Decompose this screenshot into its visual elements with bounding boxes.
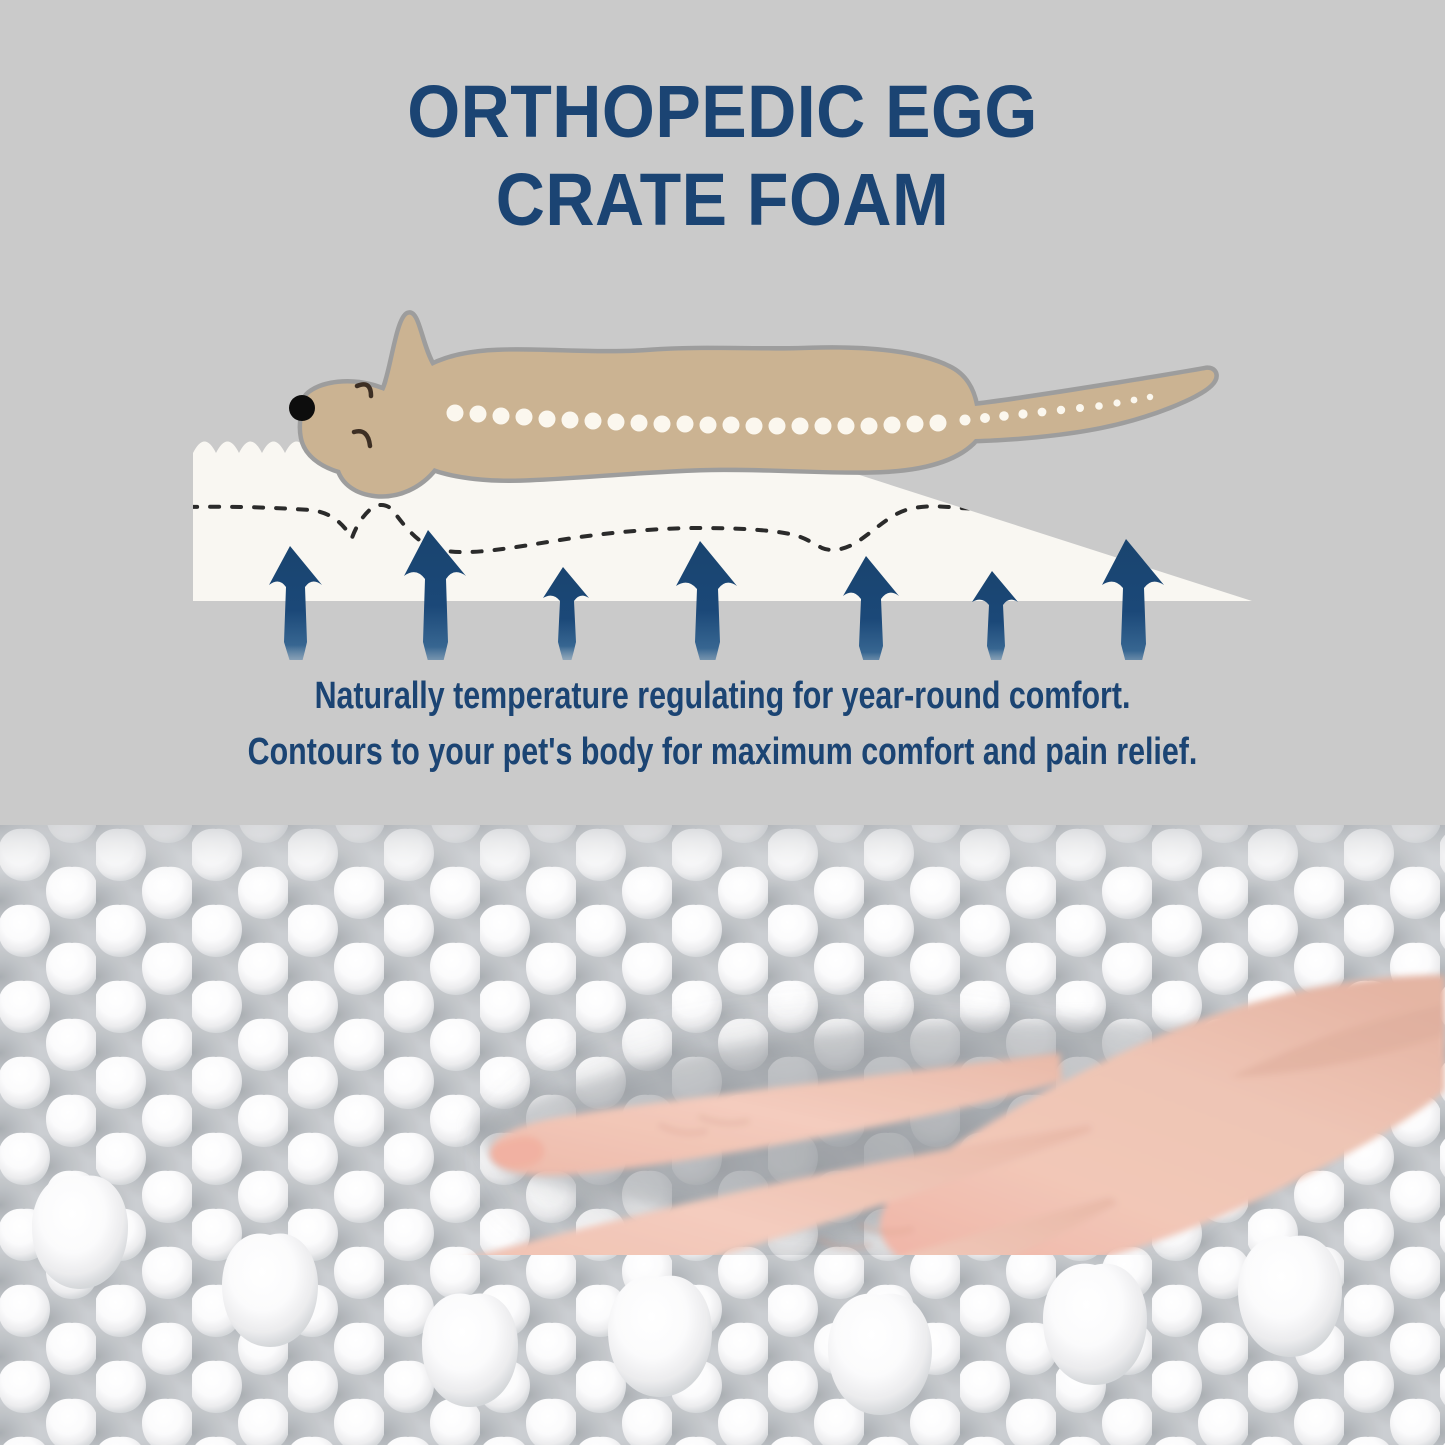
dog-on-foam-illustration <box>0 290 1445 660</box>
dog-nose <box>289 395 315 421</box>
sleeping-dog <box>289 315 1214 495</box>
tagline-block: Naturally temperature regulating for yea… <box>145 668 1301 780</box>
tagline-line-2: Contours to your pet's body for maximum … <box>145 724 1301 780</box>
tagline-line-1: Naturally temperature regulating for yea… <box>145 668 1301 724</box>
hand-pressing-foam-photo <box>0 825 1445 1445</box>
product-feature-image: ORTHOPEDIC EGG CRATE FOAM <box>0 0 1445 1445</box>
page-title: ORTHOPEDIC EGG CRATE FOAM <box>58 68 1387 244</box>
foam-photo-panel <box>0 825 1445 1445</box>
top-info-panel: ORTHOPEDIC EGG CRATE FOAM <box>0 0 1445 825</box>
